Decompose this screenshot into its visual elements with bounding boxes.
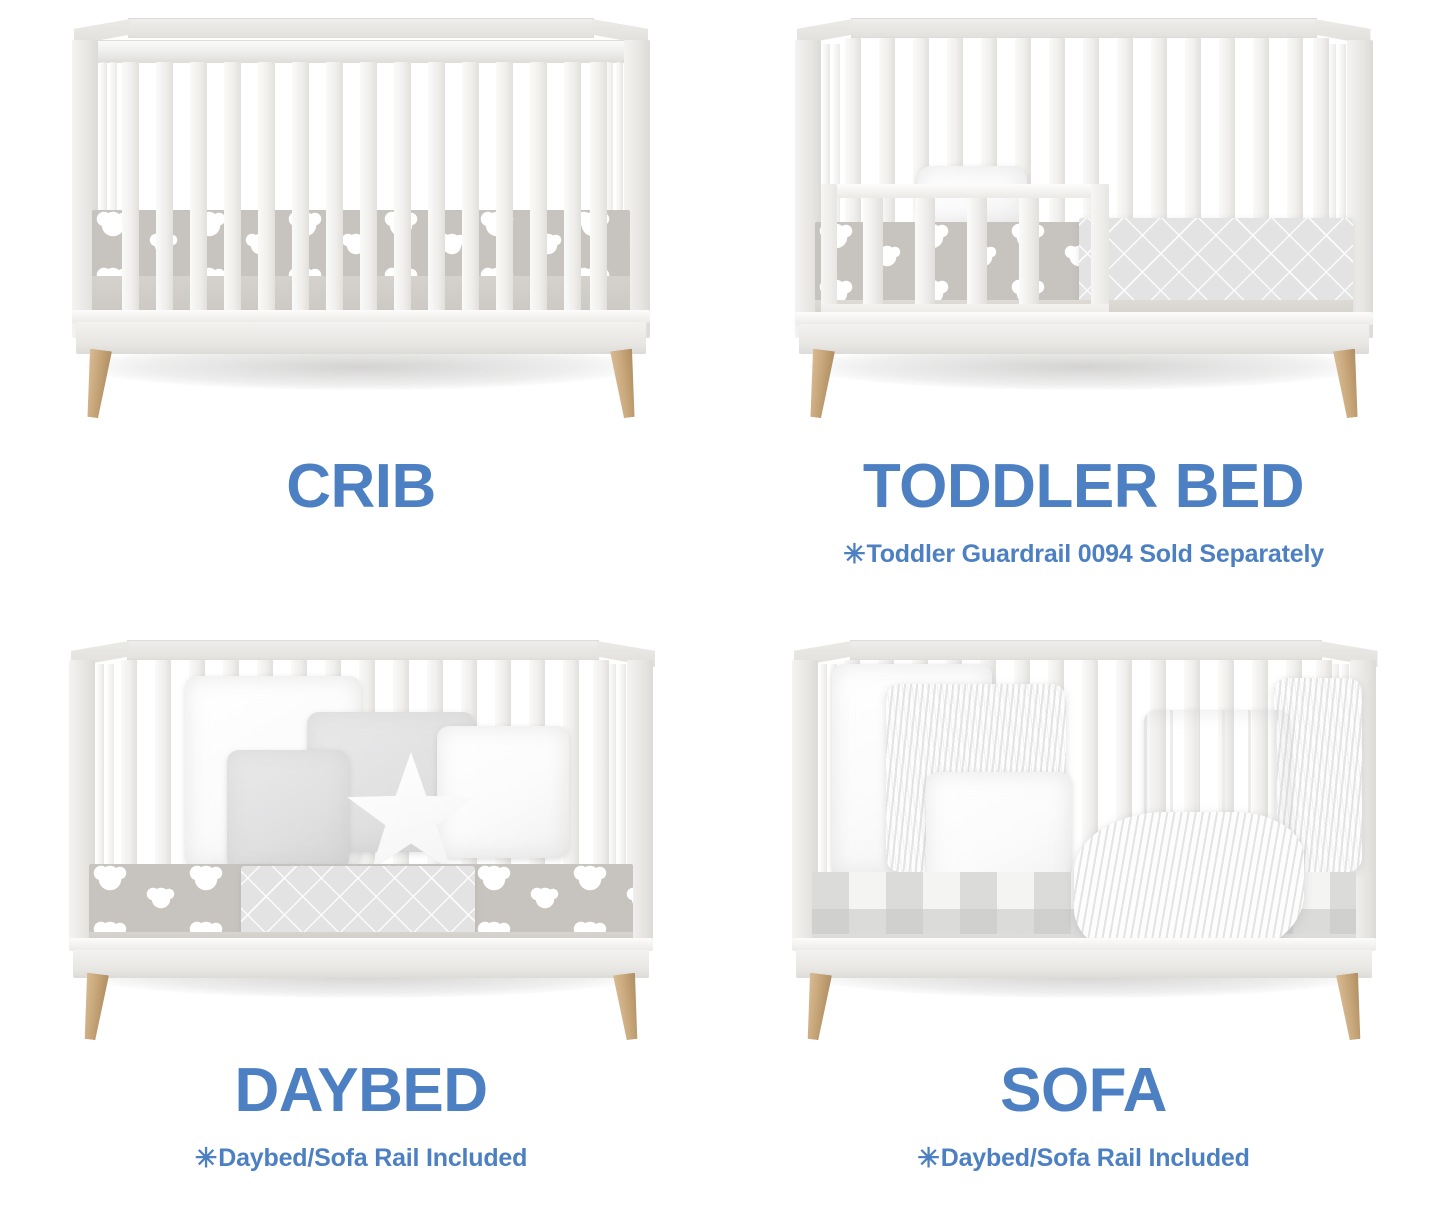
crib-slat xyxy=(496,62,513,312)
guardrail-end-post xyxy=(1091,184,1109,320)
sofa-furniture xyxy=(774,616,1394,1026)
sofa-title: SOFA xyxy=(722,1060,1445,1122)
leg-front-right xyxy=(1333,349,1363,419)
crib-slat xyxy=(258,62,275,312)
leg-front-right xyxy=(610,349,640,419)
leg-front-left xyxy=(82,349,112,419)
crib-slat xyxy=(462,62,479,312)
daybed-title: DAYBED xyxy=(0,1060,722,1122)
crib-caption: CRIB xyxy=(0,420,722,518)
guardrail-slat xyxy=(915,198,935,306)
guardrail-slat xyxy=(1019,198,1039,306)
quadrant-crib: CRIB xyxy=(0,0,722,612)
toddler-bed-illustration xyxy=(722,0,1445,420)
back-slat xyxy=(1313,38,1329,238)
back-slat xyxy=(1185,38,1201,238)
leg-front-right xyxy=(613,973,643,1041)
gray-quilted-pillow quilt-fabric xyxy=(227,750,349,870)
daybed-note: ✳Daybed/Sofa Rail Included xyxy=(0,1144,722,1174)
base-panel xyxy=(799,324,1369,354)
guardrail-slat xyxy=(967,198,987,306)
guardrail-start-post xyxy=(821,184,837,320)
back-rail xyxy=(851,18,1317,38)
base-panel xyxy=(73,950,649,978)
asterisk-icon: ✳ xyxy=(917,1143,939,1173)
back-slat xyxy=(1287,38,1303,238)
toddler-guardrail xyxy=(821,184,1111,324)
back-slat xyxy=(1151,38,1167,238)
back-rail xyxy=(127,640,599,660)
back-rail xyxy=(850,640,1322,660)
crib-slat xyxy=(156,62,173,312)
back-slat xyxy=(155,660,171,872)
sofa-caption: SOFA ✳Daybed/Sofa Rail Included xyxy=(722,1032,1445,1174)
white-textured-pillow xyxy=(437,726,569,858)
quadrant-sofa: SOFA ✳Daybed/Sofa Rail Included xyxy=(722,612,1445,1206)
daybed-caption: DAYBED ✳Daybed/Sofa Rail Included xyxy=(0,1032,722,1174)
crib-slat xyxy=(360,62,377,312)
back-slat xyxy=(1117,38,1133,238)
back-rail xyxy=(128,18,594,38)
toddler-bed-note-text: Toddler Guardrail 0094 Sold Separately xyxy=(867,540,1324,568)
base-panel xyxy=(796,950,1372,978)
daybed-illustration xyxy=(0,612,722,1032)
front-top-rail xyxy=(72,40,650,63)
guardrail-slat xyxy=(863,198,883,306)
crib-slat xyxy=(428,62,445,312)
configuration-grid: CRIB xyxy=(0,0,1445,1206)
toddler-bed-caption: TODDLER BED ✳Toddler Guardrail 0094 Sold… xyxy=(722,420,1445,570)
crib-illustration xyxy=(0,0,722,420)
daybed-furniture xyxy=(51,616,671,1026)
crib-slat xyxy=(122,62,139,312)
quadrant-toddler-bed: TODDLER BED ✳Toddler Guardrail 0094 Sold… xyxy=(722,0,1445,612)
leg-front-left xyxy=(802,973,832,1041)
back-slat xyxy=(1253,38,1269,238)
sofa-note: ✳Daybed/Sofa Rail Included xyxy=(722,1144,1445,1174)
crib-slat xyxy=(292,62,309,312)
asterisk-icon: ✳ xyxy=(195,1143,217,1173)
crib-slat xyxy=(530,62,547,312)
crib-slat xyxy=(564,62,581,312)
leg-front-right xyxy=(1336,973,1366,1041)
crib-slat xyxy=(394,62,411,312)
guardrail-top-rail xyxy=(821,184,1109,198)
crib-slat xyxy=(224,62,241,312)
crib-furniture xyxy=(56,14,666,414)
crib-title: CRIB xyxy=(0,456,722,518)
daybed-note-text: Daybed/Sofa Rail Included xyxy=(218,1144,527,1172)
toddler-bed-furniture xyxy=(779,14,1389,414)
quadrant-daybed: DAYBED ✳Daybed/Sofa Rail Included xyxy=(0,612,722,1206)
toddler-bed-title: TODDLER BED xyxy=(722,456,1445,518)
crib-slat xyxy=(326,62,343,312)
back-slat xyxy=(1219,38,1235,238)
toddler-bed-note: ✳Toddler Guardrail 0094 Sold Separately xyxy=(722,540,1445,570)
asterisk-icon: ✳ xyxy=(843,539,865,569)
leg-front-left xyxy=(79,973,109,1041)
leg-front-left xyxy=(804,349,834,419)
back-slat xyxy=(121,660,137,872)
back-slat xyxy=(593,660,609,872)
sofa-illustration xyxy=(722,612,1445,1032)
crib-slat xyxy=(190,62,207,312)
sofa-note-text: Daybed/Sofa Rail Included xyxy=(941,1144,1250,1172)
crib-slat xyxy=(590,62,607,312)
base-panel xyxy=(76,322,646,354)
